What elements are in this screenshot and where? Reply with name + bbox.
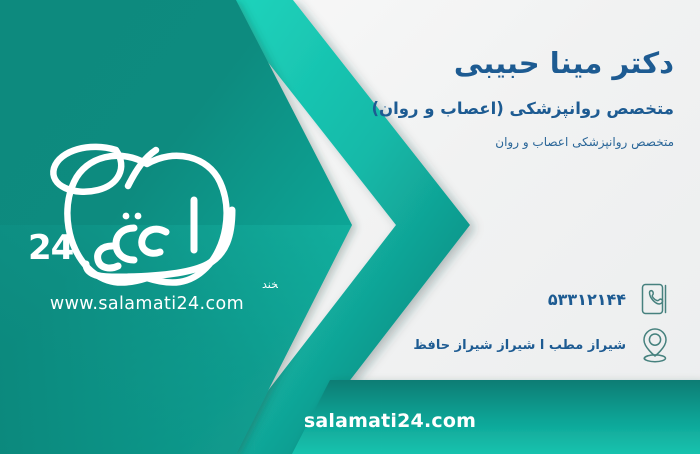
logo-url: www.salamati24.com xyxy=(50,294,244,313)
contact-list: ۵۳۳۱۲۱۴۴ شیراز مطب ا شیراز شیراز حافظ xyxy=(248,276,678,368)
doctor-specialty-main: متخصص روانپزشکی (اعصاب و روان) xyxy=(254,97,674,120)
doctor-info: دکتر مینا حبیبی متخصص روانپزشکی (اعصاب و… xyxy=(254,44,674,151)
doctor-specialty-sub: متخصص روانپزشکی اعصاب و روان xyxy=(254,134,674,151)
location-pin-icon xyxy=(632,326,678,364)
logo-badge-24: 24 xyxy=(28,228,74,268)
contact-row-phone[interactable]: ۵۳۳۱۲۱۴۴ xyxy=(248,276,678,322)
logo-artwork: 24 به راحتی یک لبخند www.salamati24.com xyxy=(16,128,278,313)
salamati24-logo: 24 به راحتی یک لبخند www.salamati24.com xyxy=(16,128,278,313)
contact-row-address[interactable]: شیراز مطب ا شیراز شیراز حافظ xyxy=(248,322,678,368)
business-card: 24 به راحتی یک لبخند www.salamati24.com … xyxy=(0,0,700,454)
phone-book-icon xyxy=(632,282,678,316)
address-text: شیراز مطب ا شیراز شیراز حافظ xyxy=(248,338,632,353)
doctor-name: دکتر مینا حبیبی xyxy=(254,44,674,83)
phone-number: ۵۳۳۱۲۱۴۴ xyxy=(248,290,632,309)
